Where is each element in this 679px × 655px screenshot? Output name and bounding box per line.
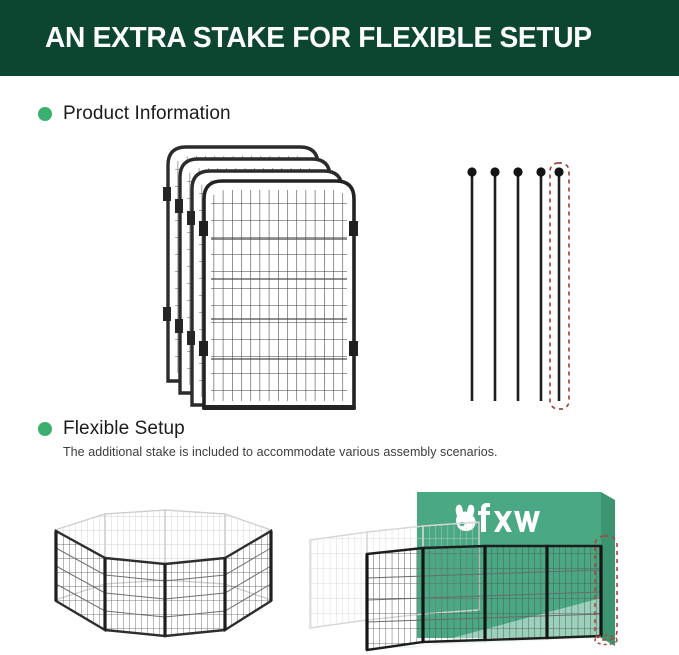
header-banner: AN EXTRA STAKE FOR FLEXIBLE SETUP	[0, 0, 679, 76]
section-heading-flexible-setup: Flexible Setup	[38, 418, 185, 440]
section-label: Product Information	[63, 103, 231, 125]
page-title: AN EXTRA STAKE FOR FLEXIBLE SETUP	[45, 24, 592, 53]
octagonal-playpen-illustration	[15, 488, 315, 653]
fence-against-wall-illustration	[305, 478, 679, 655]
bullet-icon	[38, 107, 52, 121]
header-divider	[0, 76, 679, 78]
product-infographic: AN EXTRA STAKE FOR FLEXIBLE SETUP Produc…	[0, 0, 679, 655]
brand-wall-side	[601, 492, 615, 646]
section-label: Flexible Setup	[63, 418, 185, 440]
stakes-illustration	[455, 158, 575, 413]
section-heading-product-information: Product Information	[38, 103, 231, 125]
bullet-icon	[38, 422, 52, 436]
stacked-fence-panels-illustration	[150, 135, 390, 410]
section-description: The additional stake is included to acco…	[63, 445, 498, 459]
